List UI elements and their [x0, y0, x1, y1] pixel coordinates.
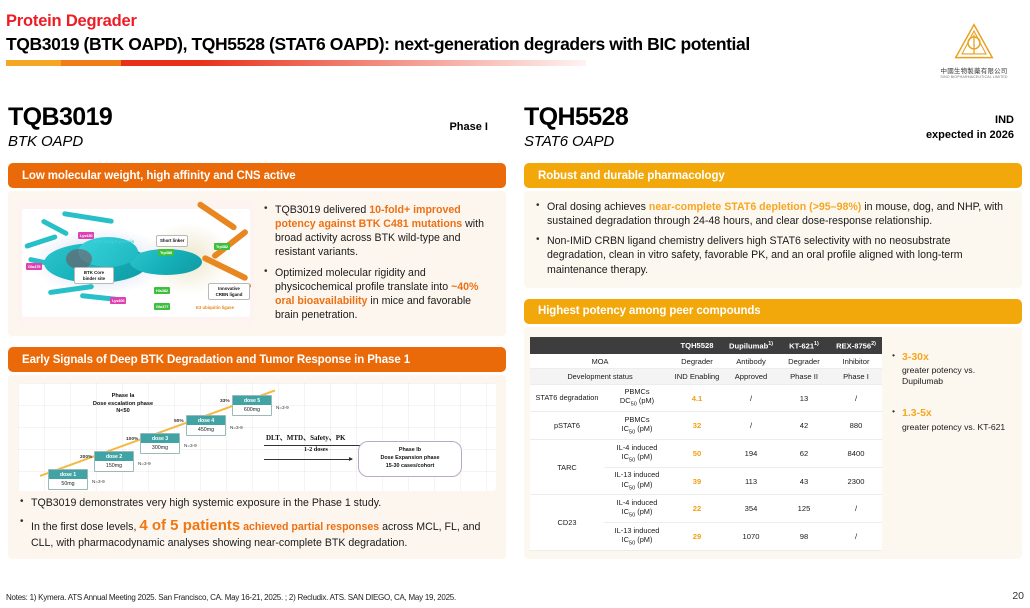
cell: Phase II [778, 369, 830, 384]
residue-tag-glu475: Glu475 [26, 263, 42, 270]
cell: Degrader [670, 354, 724, 369]
list-item: Oral dosing achieves near-complete STAT6… [534, 200, 1010, 228]
cell: / [830, 495, 882, 523]
row-label-moa: MOA [530, 354, 670, 369]
callout-btk-core-binder-site: BTK Corebinder site [74, 267, 114, 284]
cell: 880 [830, 412, 882, 440]
right-banner-1: Robust and durable pharmacology [524, 163, 1022, 188]
callout-short-linker: Short linker [156, 235, 188, 247]
dose-pct-5: 33% [220, 399, 230, 404]
right-column: TQH5528 STAT6 OAPD INDexpected in 2026 R… [524, 104, 1022, 559]
row-group-cd23: CD23 [530, 495, 604, 550]
dose-n-2: N=3-9 [138, 461, 151, 466]
th-blank-2 [604, 337, 670, 355]
left-banner-1: Low molecular weight, high affinity and … [8, 163, 506, 188]
cell: 22 [670, 495, 724, 523]
table-row: pSTAT6 PBMCsIC50 (pM) 32 / 42 880 [530, 412, 882, 440]
residue-tag-trp388: Trp388 [158, 249, 174, 256]
left-column: TQB3019 BTK OAPD Phase I Low molecular w… [8, 104, 506, 559]
cell: IND Enabling [670, 369, 724, 384]
row-metric: IL-13 inducedIC50 (pM) [604, 523, 670, 551]
dose-n-1: N=3-9 [92, 479, 105, 484]
dose-box-3: dose 3 300mg [140, 433, 180, 454]
dose-pct-2: 200% [80, 455, 92, 460]
list-item: TQB3019 delivered 10-fold+ improved pote… [262, 203, 496, 259]
cell: 2300 [830, 467, 882, 495]
dose-box-5: dose 5 600mg [232, 395, 272, 416]
callout-innovative-crbn-ligand: InnovativeCRBN ligand [208, 283, 250, 300]
dlt-mtd-safety-pk-label: DLT、MTD、Safety、PK [266, 433, 345, 443]
logo-triangle-icon [952, 20, 996, 64]
potency-comparison-table: TQH5528 Dupilumab1) KT-6211) REX-87562) … [530, 337, 882, 551]
row-metric: IL-4 inducedIC50 (pM) [604, 440, 670, 468]
cell: 4.1 [670, 384, 724, 412]
left-banner-2: Early Signals of Deep BTK Degradation an… [8, 347, 506, 372]
cell: Degrader [778, 354, 830, 369]
th-tqh5528: TQH5528 [670, 337, 724, 355]
slide-footer: Notes: 1) Kymera. ATS Annual Meeting 202… [6, 590, 1024, 602]
dose-n-4: N=3-9 [230, 425, 243, 430]
residue-tag-lys406: Lys406 [110, 297, 126, 304]
th-dupilumab: Dupilumab1) [724, 337, 778, 355]
cell: 194 [724, 440, 778, 468]
dose-box-4: dose 4 450mg [186, 415, 226, 436]
table-row: TARC IL-4 inducedIC50 (pM) 50 194 62 840… [530, 440, 882, 468]
left-panel-2: Phase Ia Dose escalation phase N<50 dose… [8, 375, 506, 559]
table-header-row: TQH5528 Dupilumab1) KT-6211) REX-87562) [530, 337, 882, 355]
cell: 62 [778, 440, 830, 468]
row-metric: IL-13 inducedIC50 (pM) [604, 467, 670, 495]
dose-diagram-caption: Phase Ia Dose escalation phase N<50 [68, 393, 178, 416]
cell: 125 [778, 495, 830, 523]
dose-box-1: dose 1 50mg [48, 469, 88, 490]
right-ind-badge: INDexpected in 2026 [926, 113, 1014, 143]
cell: / [830, 523, 882, 551]
cell: 32 [670, 412, 724, 440]
logo-name-en: SINO BIOPHARMACEUTICAL LIMITED [926, 75, 1022, 79]
right-bullets-1: Oral dosing achieves near-complete STAT6… [534, 200, 1010, 276]
cell: 29 [670, 523, 724, 551]
table-row-moa: MOA Degrader Antibody Degrader Inhibitor [530, 354, 882, 369]
list-item: Non-IMiD CRBN ligand chemistry delivers … [534, 234, 1010, 276]
list-item: In the first dose levels, 4 of 5 patient… [18, 516, 496, 550]
slide-kicker: Protein Degrader [6, 12, 1024, 31]
page-number: 20 [1012, 590, 1024, 602]
residue-tag-lys430: Lys430 [78, 232, 94, 239]
list-item: Optimized molecular rigidity and physico… [262, 266, 496, 322]
label-btk-target-protein: BTK target protein [94, 239, 134, 244]
cell: 1070 [724, 523, 778, 551]
list-item: 1.3-5x greater potency vs. KT-621 [892, 407, 1016, 432]
row-metric: PBMCsDC50 (pM) [604, 384, 670, 412]
row-group-stat6-degradation: STAT6 degradation [530, 384, 604, 412]
cell: 13 [778, 384, 830, 412]
cell: / [724, 384, 778, 412]
dose-n-3: N=3-9 [184, 443, 197, 448]
list-item: 3-30x greater potency vs. Dupilumab [892, 351, 1016, 387]
left-drug-name: TQB3019 [8, 104, 506, 130]
cell: 50 [670, 440, 724, 468]
cell: Phase I [830, 369, 882, 384]
row-group-tarc: TARC [530, 440, 604, 495]
potency-side-notes: 3-30x greater potency vs. Dupilumab 1.3-… [888, 337, 1016, 551]
cell: 39 [670, 467, 724, 495]
company-logo: 中國生物製藥有限公司 SINO BIOPHARMACEUTICAL LIMITE… [926, 20, 1022, 79]
cell: 8400 [830, 440, 882, 468]
row-metric: PBMCsIC50 (pM) [604, 412, 670, 440]
left-phase-badge: Phase I [449, 120, 488, 135]
th-blank-1 [530, 337, 604, 355]
left-bullets-1: TQB3019 delivered 10-fold+ improved pote… [262, 199, 496, 327]
residue-tag-trp382: Trp382 [214, 243, 230, 250]
right-banner-2: Highest potency among peer compounds [524, 299, 1022, 324]
row-metric: IL-4 inducedIC50 (pM) [604, 495, 670, 523]
logo-name-cn: 中國生物製藥有限公司 [926, 65, 1022, 75]
left-bullets-2: TQB3019 demonstrates very high systemic … [18, 496, 496, 550]
cell: / [830, 384, 882, 412]
dose-pct-3: 100% [126, 437, 138, 442]
th-rex-8756: REX-87562) [830, 337, 882, 355]
th-kt-621: KT-6211) [778, 337, 830, 355]
left-panel-1: Lys430 Glu475 Lys406 Trp388 His382 Glu37… [8, 191, 506, 336]
phase-1b-expansion-box: Phase Ib Dose Expansion phase 15-30 case… [358, 441, 462, 476]
btk-ternary-complex-figure: Lys430 Glu475 Lys406 Trp388 His382 Glu37… [18, 199, 254, 327]
cell: 43 [778, 467, 830, 495]
dose-box-2: dose 2 150mg [94, 451, 134, 472]
table-row: CD23 IL-4 inducedIC50 (pM) 22 354 125 / [530, 495, 882, 523]
dose-escalation-diagram: Phase Ia Dose escalation phase N<50 dose… [18, 383, 496, 491]
slide-headline: TQB3019 (BTK OAPD), TQH5528 (STAT6 OAPD)… [6, 34, 1024, 55]
table-row-development-status: Development status IND Enabling Approved… [530, 369, 882, 384]
right-panel-1: Oral dosing achieves near-complete STAT6… [524, 191, 1022, 287]
cell: 98 [778, 523, 830, 551]
residue-tag-glu377: Glu377 [154, 303, 170, 310]
dose-n-5: N=3-9 [276, 405, 289, 410]
footnotes: Notes: 1) Kymera. ATS Annual Meeting 202… [6, 593, 456, 602]
row-group-pstat6: pSTAT6 [530, 412, 604, 440]
cell: 113 [724, 467, 778, 495]
cell: Antibody [724, 354, 778, 369]
dose-pct-4: 50% [174, 419, 184, 424]
residue-tag-his382: His382 [154, 287, 170, 294]
row-label-development-status: Development status [530, 369, 670, 384]
list-item: TQB3019 demonstrates very high systemic … [18, 496, 496, 510]
dlt-doses-label: 1-2 doses [304, 446, 328, 453]
table-row: STAT6 degradation PBMCsDC50 (pM) 4.1 / 1… [530, 384, 882, 412]
cell: Approved [724, 369, 778, 384]
cell: 42 [778, 412, 830, 440]
cell: 354 [724, 495, 778, 523]
cell: / [724, 412, 778, 440]
left-drug-subtitle: BTK OAPD [8, 133, 506, 150]
header-rule-bar [6, 60, 586, 66]
label-e3-ubiquitin-ligase: E3 ubiquitin ligase [196, 305, 234, 310]
cell: Inhibitor [830, 354, 882, 369]
slide-header: Protein Degrader TQB3019 (BTK OAPD), TQH… [6, 12, 1024, 66]
right-panel-2: TQH5528 Dupilumab1) KT-6211) REX-87562) … [524, 327, 1022, 559]
